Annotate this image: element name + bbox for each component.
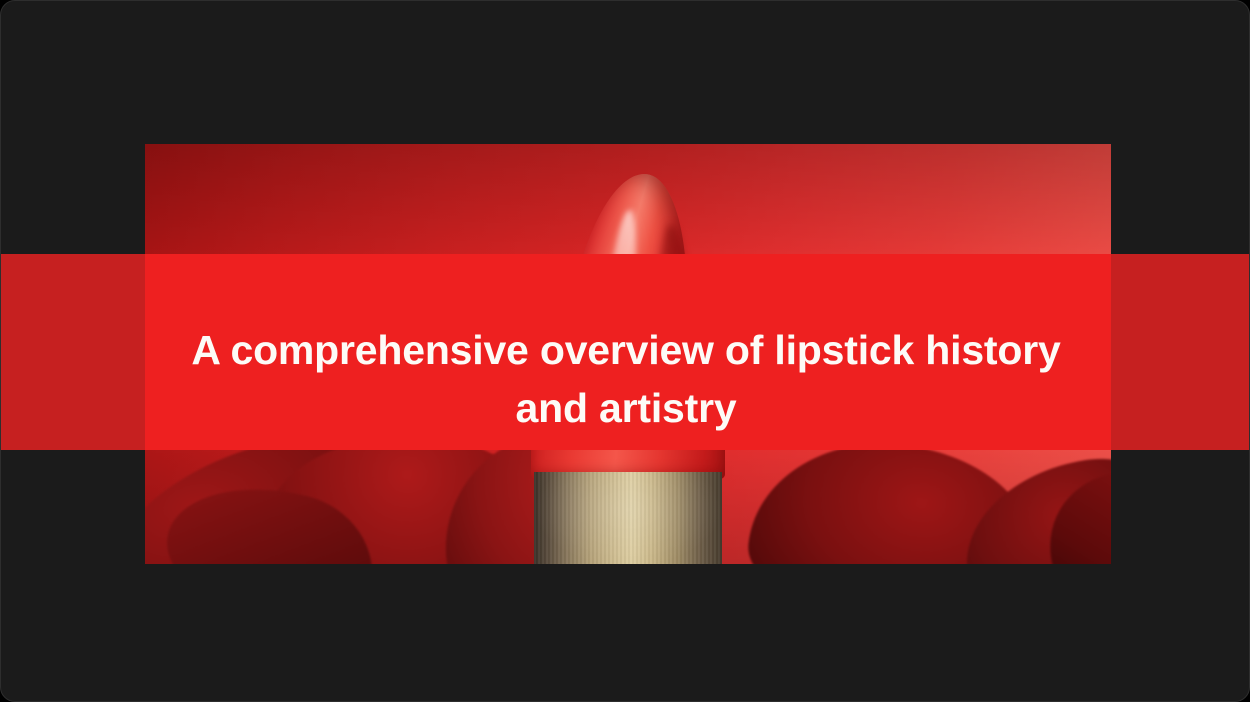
lipstick-metal-tube	[534, 472, 722, 564]
slide-title: A comprehensive overview of lipstick his…	[1, 281, 1250, 477]
slide-frame: A comprehensive overview of lipstick his…	[0, 0, 1250, 702]
lipstick-tube-texture	[534, 472, 722, 564]
